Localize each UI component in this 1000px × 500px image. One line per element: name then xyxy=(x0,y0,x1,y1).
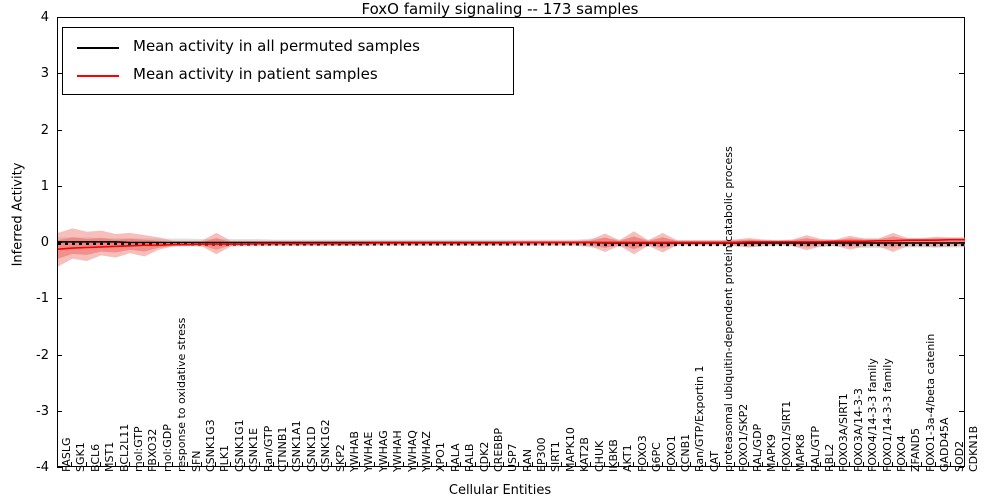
legend-item: Mean activity in all permuted samples xyxy=(63,34,515,62)
x-tick-label: CSNK1G1 xyxy=(234,419,245,472)
x-tick-label: MAPK9 xyxy=(766,434,777,472)
x-tick-label: BCL6 xyxy=(90,444,101,472)
x-tick-mark xyxy=(921,462,922,467)
x-tick-label: SKP2 xyxy=(335,444,346,472)
x-tick-label: RALB xyxy=(464,444,475,472)
x-tick-label: FOXO1/SIRT1 xyxy=(781,401,792,472)
x-tick-label: CTNNB1 xyxy=(277,427,288,472)
x-tick-mark xyxy=(172,462,173,467)
x-tick-label: RBL2 xyxy=(824,444,835,472)
chart-legend: Mean activity in all permuted samplesMea… xyxy=(62,27,514,95)
x-tick-mark xyxy=(806,462,807,467)
x-tick-mark xyxy=(302,462,303,467)
x-tick-mark xyxy=(57,462,58,467)
legend-item: Mean activity in patient samples xyxy=(63,62,515,90)
x-tick-label: YWHAE xyxy=(363,432,374,472)
x-tick-label: RAL/GDP xyxy=(752,424,763,472)
x-tick-mark xyxy=(187,462,188,467)
x-tick-label: response to oxidative stress xyxy=(176,318,187,472)
x-tick-mark xyxy=(71,462,72,467)
x-tick-label: YWHAZ xyxy=(421,431,432,472)
x-tick-label: CSNK1A1 xyxy=(291,420,302,472)
legend-label: Mean activity in patient samples xyxy=(133,65,378,83)
x-tick-label: CCNB1 xyxy=(680,434,691,472)
x-tick-mark xyxy=(906,462,907,467)
x-tick-label: mol:GDP xyxy=(162,424,173,472)
legend-line-swatch xyxy=(77,47,119,49)
x-tick-mark xyxy=(345,462,346,467)
x-tick-mark xyxy=(331,462,332,467)
x-tick-mark xyxy=(705,462,706,467)
x-tick-mark xyxy=(546,462,547,467)
x-tick-label: RAN xyxy=(522,449,533,472)
x-tick-mark xyxy=(647,462,648,467)
x-tick-label: MAPK8 xyxy=(795,434,806,472)
x-tick-mark xyxy=(590,462,591,467)
x-tick-mark xyxy=(86,462,87,467)
x-tick-label: CSNK1E xyxy=(248,428,259,472)
x-tick-mark xyxy=(777,462,778,467)
x-tick-mark xyxy=(575,462,576,467)
x-tick-label: Ran/GTP/Exportin 1 xyxy=(694,365,705,472)
x-tick-mark xyxy=(230,462,231,467)
x-tick-label: CSNK1G3 xyxy=(205,419,216,472)
x-tick-mark xyxy=(287,462,288,467)
x-tick-label: SIRT1 xyxy=(550,441,561,472)
x-tick-mark xyxy=(719,462,720,467)
x-tick-mark xyxy=(964,462,965,467)
x-tick-label: G6PC xyxy=(651,442,662,472)
x-tick-label: YWHAG xyxy=(378,430,389,472)
x-tick-label: CDK2 xyxy=(479,442,490,472)
x-tick-label: IKBKB xyxy=(608,439,619,472)
x-tick-mark xyxy=(273,462,274,467)
x-tick-mark xyxy=(561,462,562,467)
x-tick-mark xyxy=(143,462,144,467)
x-tick-label: GADD45A xyxy=(939,417,950,472)
x-tick-mark xyxy=(878,462,879,467)
x-tick-label: FOXO3A/14-3-3 xyxy=(853,388,864,472)
x-tick-label: SGK1 xyxy=(75,442,86,472)
x-tick-label: BCL2L11 xyxy=(119,424,130,472)
x-tick-mark xyxy=(892,462,893,467)
x-tick-label: FOXO3A/SIRT1 xyxy=(838,393,849,472)
x-tick-mark xyxy=(316,462,317,467)
x-tick-label: USP7 xyxy=(507,443,518,472)
x-tick-mark xyxy=(820,462,821,467)
chart-root: FoxO family signaling -- 173 samples Inf… xyxy=(0,0,1000,500)
x-tick-mark xyxy=(935,462,936,467)
x-tick-label: CHUK xyxy=(594,441,605,472)
x-tick-mark xyxy=(359,462,360,467)
x-tick-mark xyxy=(201,462,202,467)
x-tick-label: YWHAQ xyxy=(407,430,418,472)
x-tick-label: YWHAB xyxy=(349,431,360,472)
x-tick-mark xyxy=(662,462,663,467)
x-tick-mark xyxy=(748,462,749,467)
x-tick-label: RALA xyxy=(450,443,461,472)
x-tick-label: MST1 xyxy=(104,442,115,472)
x-tick-label: ZFAND5 xyxy=(910,428,921,472)
x-tick-mark xyxy=(518,462,519,467)
x-tick-label: FOXO4/14-3-3 family xyxy=(867,358,878,472)
x-tick-mark xyxy=(633,462,634,467)
x-tick-label: CAT xyxy=(709,451,720,472)
x-tick-mark xyxy=(158,462,159,467)
x-tick-label: YWHAH xyxy=(392,430,403,472)
x-tick-mark xyxy=(129,462,130,467)
x-tick-label: FOXO3 xyxy=(637,435,648,472)
x-tick-mark xyxy=(532,462,533,467)
x-tick-mark xyxy=(100,462,101,467)
x-tick-mark xyxy=(259,462,260,467)
x-tick-label: CSNK1D xyxy=(306,426,317,472)
x-tick-label: FOXO1-3a-4/beta catenin xyxy=(925,334,936,472)
x-tick-mark xyxy=(791,462,792,467)
x-tick-mark xyxy=(849,462,850,467)
x-tick-mark xyxy=(762,462,763,467)
legend-line-swatch xyxy=(77,75,119,77)
x-tick-mark xyxy=(834,462,835,467)
x-tick-mark xyxy=(604,462,605,467)
x-tick-label: Ran/GTP xyxy=(263,426,274,472)
x-tick-mark xyxy=(374,462,375,467)
x-tick-mark xyxy=(503,462,504,467)
x-tick-mark xyxy=(244,462,245,467)
x-tick-mark xyxy=(618,462,619,467)
x-tick-mark xyxy=(950,462,951,467)
x-tick-label: CDKN1B xyxy=(968,426,979,472)
x-tick-label: FBXO32 xyxy=(147,429,158,472)
x-tick-label: FOXO1/14-3-3 family xyxy=(882,358,893,472)
x-tick-mark xyxy=(863,462,864,467)
x-tick-label: PLK1 xyxy=(219,445,230,472)
x-tick-label: mol:GTP xyxy=(133,426,144,472)
x-tick-label: FOXO1/SKP2 xyxy=(738,404,749,472)
x-tick-mark xyxy=(734,462,735,467)
x-tick-label: CREBBP xyxy=(493,428,504,472)
x-tick-mark xyxy=(417,462,418,467)
x-tick-label: EP300 xyxy=(536,437,547,472)
x-tick-label: SOD2 xyxy=(954,441,965,472)
x-tick-label: XPO1 xyxy=(435,442,446,472)
x-tick-mark xyxy=(475,462,476,467)
x-tick-label: proteasomal ubiquitin-dependent protein … xyxy=(723,146,734,472)
x-tick-mark xyxy=(489,462,490,467)
x-tick-mark xyxy=(403,462,404,467)
x-tick-mark xyxy=(388,462,389,467)
legend-label: Mean activity in all permuted samples xyxy=(133,37,420,55)
x-tick-mark xyxy=(446,462,447,467)
x-tick-label: RAL/GTP xyxy=(810,426,821,472)
x-tick-label: MAPK10 xyxy=(565,427,576,472)
x-tick-mark xyxy=(460,462,461,467)
x-tick-mark xyxy=(690,462,691,467)
x-tick-mark xyxy=(431,462,432,467)
x-tick-label: FASLG xyxy=(61,438,72,472)
x-tick-mark xyxy=(215,462,216,467)
x-tick-label: KAT2B xyxy=(579,437,590,472)
x-tick-label: CSNK1G2 xyxy=(320,419,331,472)
x-tick-mark xyxy=(115,462,116,467)
x-tick-label: FOXO4 xyxy=(896,435,907,472)
x-tick-label: FOXO1 xyxy=(666,435,677,472)
x-tick-mark xyxy=(676,462,677,467)
x-tick-label: AKT1 xyxy=(622,444,633,472)
x-tick-label: SFN xyxy=(191,450,202,472)
